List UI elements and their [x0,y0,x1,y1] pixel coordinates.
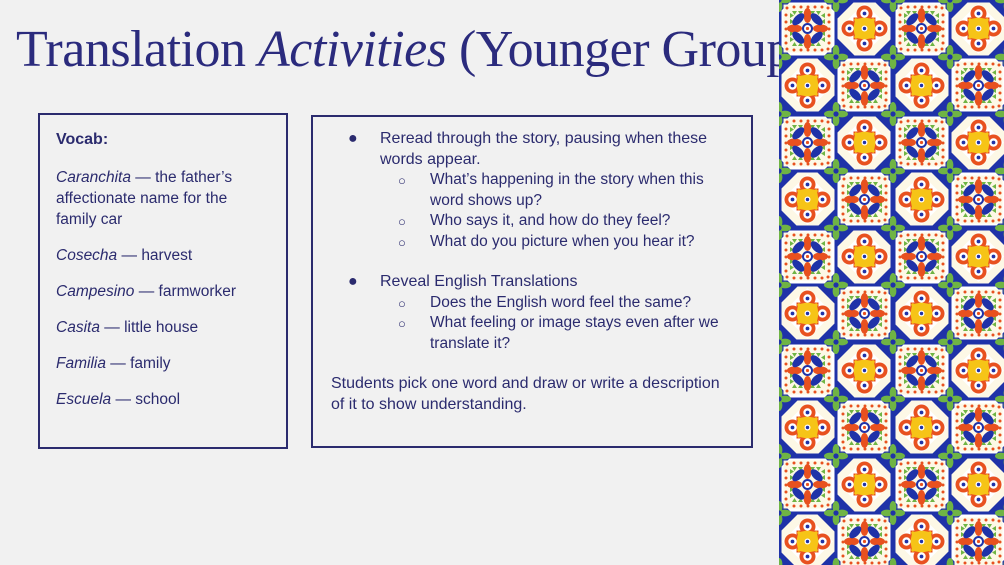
vocab-term: Caranchita [56,169,131,186]
sub-bullet-icon: ○ [398,232,412,253]
closing-note: Students pick one word and draw or write… [323,374,741,415]
activity-subbullet: ○ What do you picture when you hear it? [323,232,741,253]
vocab-term: Cosecha [56,247,117,264]
sub-bullet-icon: ○ [398,313,412,334]
vocab-term: Familia [56,355,106,372]
activity-subbullet-text: What do you picture when you hear it? [430,233,695,250]
title-segment-group: (Younger Groups) [446,21,828,78]
vocab-separator: — [134,283,158,300]
vocab-entry: Campesino — farmworker [56,281,270,302]
sub-bullet-icon: ○ [398,170,412,191]
title-segment-activities: Activities [258,21,446,78]
activity-subbullet-text: What feeling or image stays even after w… [430,314,719,352]
activity-subbullet-text: What’s happening in the story when this … [430,171,704,209]
vocab-entry: Caranchita — the father’s affectionate n… [56,167,270,230]
activity-subbullet: ○ What’s happening in the story when thi… [323,170,741,211]
activity-bullet: ● Reread through the story, pausing when… [323,129,741,170]
activity-subbullet: ○ Does the English word feel the same? [323,293,741,314]
vocab-definition: family [130,355,170,372]
activity-bullet-text: Reread through the story, pausing when t… [380,130,707,168]
activity-bullet-text: Reveal English Translations [380,273,577,290]
vocab-separator: — [131,169,155,186]
title-segment-translation: Translation [16,21,258,78]
vocab-term: Campesino [56,283,134,300]
vocab-separator: — [117,247,141,264]
vocab-entry: Escuela — school [56,389,270,410]
activity-bullet: ● Reveal English Translations [323,272,741,293]
vocab-entry: Familia — family [56,353,270,374]
activity-subbullet-text: Does the English word feel the same? [430,294,691,311]
sub-bullet-icon: ○ [398,211,412,232]
vocab-definition: little house [124,319,198,336]
talavera-tile-pattern [779,0,1004,565]
slide-canvas: Translation Activities (Younger Groups) … [0,0,1004,565]
vocab-definition: school [135,391,180,408]
vocab-term: Escuela [56,391,111,408]
vocab-panel: Vocab: Caranchita — the father’s affecti… [38,113,288,449]
vocab-definition: harvest [141,247,192,264]
vocab-entry: Cosecha — harvest [56,245,270,266]
vocab-separator: — [106,355,130,372]
activities-panel: ● Reread through the story, pausing when… [311,115,753,448]
bullet-group-spacer [323,252,741,272]
page-title: Translation Activities (Younger Groups) [16,18,756,88]
vocab-heading: Vocab: [56,129,270,151]
bullet-icon: ● [348,272,362,293]
activity-subbullet: ○ Who says it, and how do they feel? [323,211,741,232]
vocab-definition: farmworker [159,283,237,300]
activity-subbullet: ○ What feeling or image stays even after… [323,313,741,354]
bullet-icon: ● [348,129,362,150]
vocab-term: Casita [56,319,100,336]
sub-bullet-icon: ○ [398,293,412,314]
vocab-entry: Casita — little house [56,317,270,338]
activity-subbullet-text: Who says it, and how do they feel? [430,212,670,229]
vocab-separator: — [111,391,135,408]
vocab-separator: — [100,319,124,336]
